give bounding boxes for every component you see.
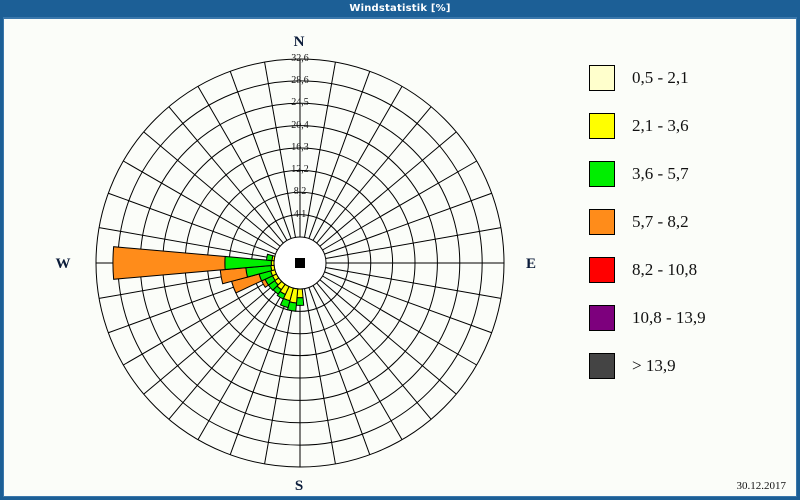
- legend-row: 5,7 - 8,2: [589, 198, 789, 246]
- grid-spoke: [144, 280, 280, 394]
- grid-spoke: [309, 287, 370, 454]
- legend-label: 2,1 - 3,6: [632, 116, 689, 136]
- rose-center-marker: [295, 258, 305, 268]
- legend-swatch: [589, 209, 615, 235]
- grid-spoke: [326, 228, 501, 259]
- legend-swatch: [589, 257, 615, 283]
- grid-spoke: [265, 62, 296, 237]
- grid-spoke: [169, 107, 283, 243]
- compass-label-east: E: [504, 256, 558, 273]
- grid-spoke: [108, 193, 275, 254]
- legend-label: > 13,9: [632, 356, 676, 376]
- grid-spoke: [198, 286, 287, 440]
- grid-spoke: [230, 71, 291, 238]
- legend-row: 0,5 - 2,1: [589, 54, 789, 102]
- grid-spoke: [313, 286, 402, 440]
- legend-label: 3,6 - 5,7: [632, 164, 689, 184]
- legend-swatch: [589, 161, 615, 187]
- wind-rose-petal-segment: [266, 254, 272, 260]
- legend-label: 8,2 - 10,8: [632, 260, 697, 280]
- grid-spoke: [323, 276, 477, 365]
- rose-hub: [295, 258, 305, 268]
- grid-spoke: [265, 289, 296, 464]
- date-stamp: 30.12.2017: [737, 480, 787, 492]
- window-titlebar: Windstatistik [%]: [0, 0, 800, 16]
- legend-row: 10,8 - 13,9: [589, 294, 789, 342]
- legend-label: 10,8 - 13,9: [632, 308, 706, 328]
- grid-spoke: [324, 272, 491, 333]
- grid-spoke: [323, 161, 477, 250]
- grid-spoke: [324, 193, 491, 254]
- legend-row: 2,1 - 3,6: [589, 102, 789, 150]
- window: Windstatistik [%] 4,18,212,216,320,424,5…: [0, 0, 800, 500]
- grid-spoke: [123, 161, 277, 250]
- legend-label: 5,7 - 8,2: [632, 212, 689, 232]
- grid-spoke: [230, 287, 291, 454]
- grid-spoke: [313, 86, 402, 240]
- grid-spoke: [320, 280, 456, 394]
- grid-spoke: [317, 283, 431, 419]
- grid-spoke: [305, 62, 336, 237]
- legend-swatch: [589, 353, 615, 379]
- legend-swatch: [589, 65, 615, 91]
- grid-spoke: [123, 276, 277, 365]
- compass-label-north: N: [272, 34, 326, 51]
- grid-spoke: [144, 132, 280, 246]
- legend-row: 3,6 - 5,7: [589, 150, 789, 198]
- legend-swatch: [589, 305, 615, 331]
- legend-label: 0,5 - 2,1: [632, 68, 689, 88]
- compass-label-west: W: [36, 256, 90, 273]
- window-title: Windstatistik [%]: [349, 3, 450, 14]
- grid-spoke: [320, 132, 456, 246]
- chart-canvas: 4,18,212,216,320,424,528,632,6 N S W E 0…: [3, 17, 797, 497]
- grid-spoke: [326, 268, 501, 299]
- grid-spoke: [169, 283, 283, 419]
- grid-spoke: [305, 289, 336, 464]
- legend-swatch: [589, 113, 615, 139]
- legend-row: > 13,9: [589, 342, 789, 390]
- grid-spoke: [309, 71, 370, 238]
- grid-spoke: [198, 86, 287, 240]
- legend: 0,5 - 2,12,1 - 3,63,6 - 5,75,7 - 8,28,2 …: [589, 54, 789, 390]
- grid-spoke: [317, 107, 431, 243]
- legend-row: 8,2 - 10,8: [589, 246, 789, 294]
- wind-rose-petal-segment: [296, 298, 303, 306]
- compass-label-south: S: [272, 478, 326, 495]
